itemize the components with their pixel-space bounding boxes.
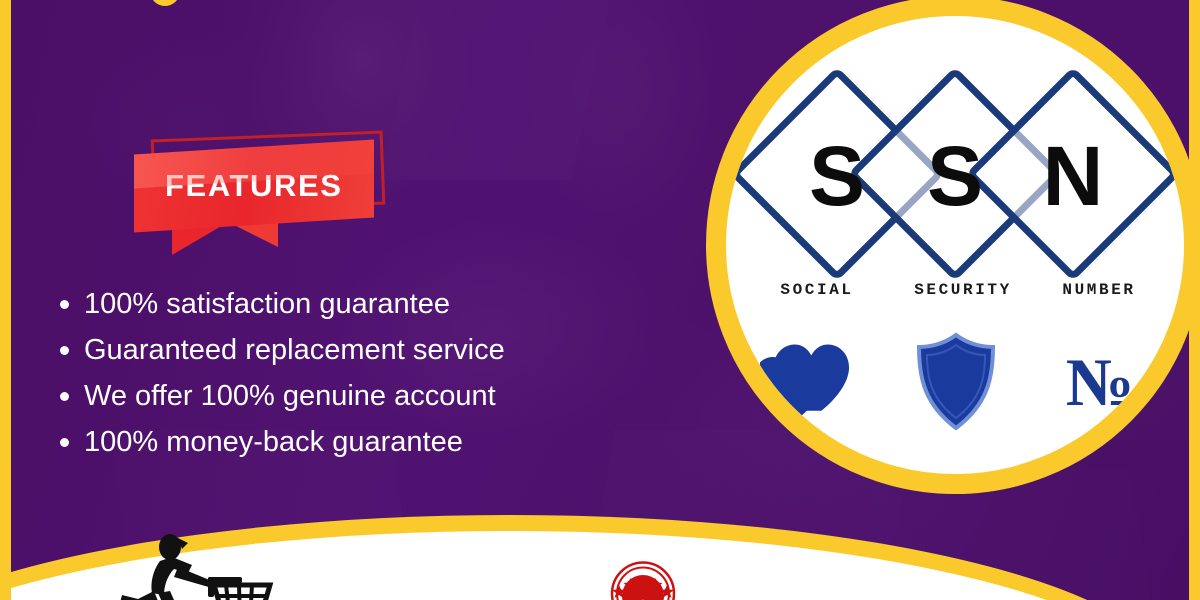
ssn-badge: S S N SOCIAL SECURITY NUMBER: [706, 0, 1200, 494]
hearts-icon: [760, 343, 864, 421]
shield-icon-cell: [886, 327, 1026, 437]
numero-symbol-icon: №: [1066, 348, 1134, 416]
ssn-word-security: SECURITY: [890, 281, 1036, 299]
ssn-diamond-row: S S N: [755, 72, 1155, 287]
bullet-dot-icon: [60, 300, 69, 309]
features-banner: FEATURES: [128, 133, 398, 268]
ssn-letter: S: [782, 134, 892, 218]
ssn-word-row: SOCIAL SECURITY NUMBER: [740, 281, 1170, 311]
features-label: FEATURES: [165, 168, 343, 204]
ssn-icon-row: №: [740, 327, 1170, 447]
feature-text: 100% satisfaction guarantee: [84, 284, 450, 324]
feature-text: We offer 100% genuine account: [84, 376, 496, 416]
ribbon-body: FEATURES: [134, 139, 374, 232]
promo-poster: FEATURES 100% satisfaction guarantee Gua…: [0, 0, 1200, 600]
bullet-dot-icon: [60, 346, 69, 355]
bullet-dot-icon: [60, 392, 69, 401]
ssn-letter: S: [900, 134, 1010, 218]
feature-text: 100% money-back guarantee: [84, 422, 463, 462]
ssn-letter: N: [1018, 134, 1128, 218]
shield-icon: [914, 332, 998, 432]
list-item: 100% satisfaction guarantee: [60, 284, 505, 330]
bullet-dot-icon: [60, 438, 69, 447]
list-item: Guaranteed replacement service: [60, 330, 505, 376]
feature-text: Guaranteed replacement service: [84, 330, 505, 370]
running-shopper-icon: [108, 533, 288, 600]
ssn-badge-content: S S N SOCIAL SECURITY NUMBER: [726, 16, 1184, 474]
hearts-icon-cell: [742, 327, 882, 437]
left-gold-edge: [0, 0, 11, 600]
features-list: 100% satisfaction guarantee Guaranteed r…: [60, 284, 505, 468]
numero-icon-cell: №: [1030, 327, 1170, 437]
red-star-seal-icon: [568, 556, 718, 600]
ssn-word-social: SOCIAL: [752, 281, 882, 299]
ssn-word-number: NUMBER: [1032, 281, 1166, 299]
list-item: 100% money-back guarantee: [60, 422, 505, 468]
list-item: We offer 100% genuine account: [60, 376, 505, 422]
